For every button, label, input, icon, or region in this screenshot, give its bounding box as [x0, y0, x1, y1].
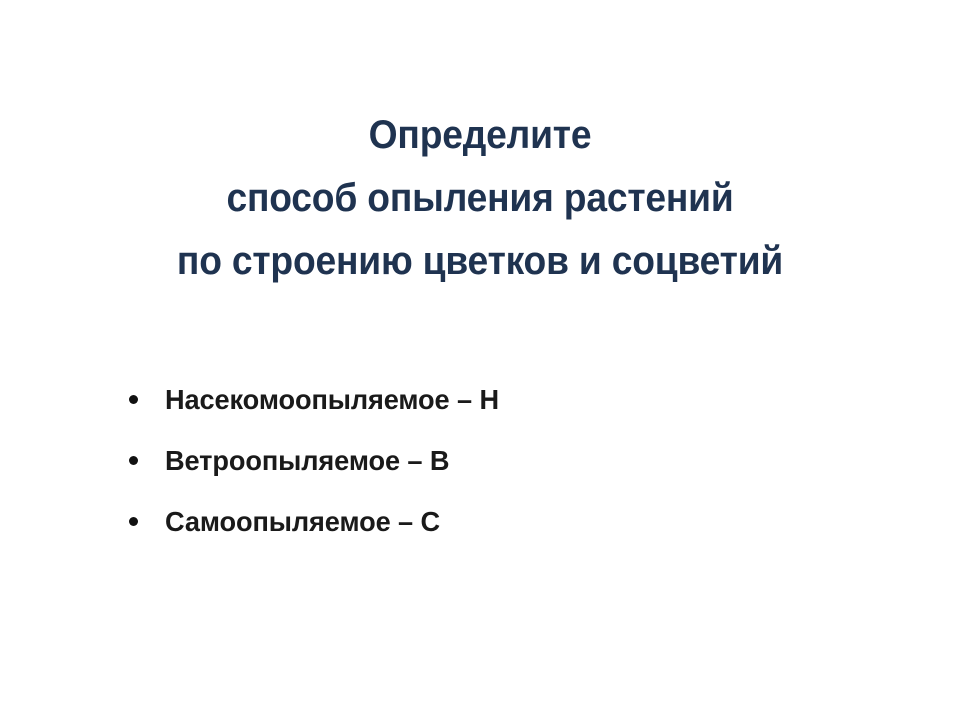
title-line-3: по строению цветков и соцветий — [71, 230, 889, 293]
bullet-list: Насекомоопыляемое – Н Ветроопыляемое – В… — [124, 381, 884, 564]
bullet-point-icon — [129, 395, 138, 404]
page-title: Определите способ опыления растений по с… — [40, 104, 920, 293]
list-item-label: Насекомоопыляемое – Н — [165, 381, 499, 419]
bullet-point-icon — [129, 456, 138, 465]
list-item: Насекомоопыляемое – Н — [124, 381, 884, 442]
title-line-2: способ опыления растений — [71, 167, 889, 230]
slide-canvas: Определите способ опыления растений по с… — [0, 0, 960, 720]
bullet-point-icon — [129, 517, 138, 526]
title-line-1: Определите — [71, 104, 889, 167]
list-item-label: Ветроопыляемое – В — [165, 442, 449, 480]
list-item: Ветроопыляемое – В — [124, 442, 884, 503]
list-item: Самоопыляемое – С — [124, 503, 884, 564]
list-item-label: Самоопыляемое – С — [165, 503, 440, 541]
